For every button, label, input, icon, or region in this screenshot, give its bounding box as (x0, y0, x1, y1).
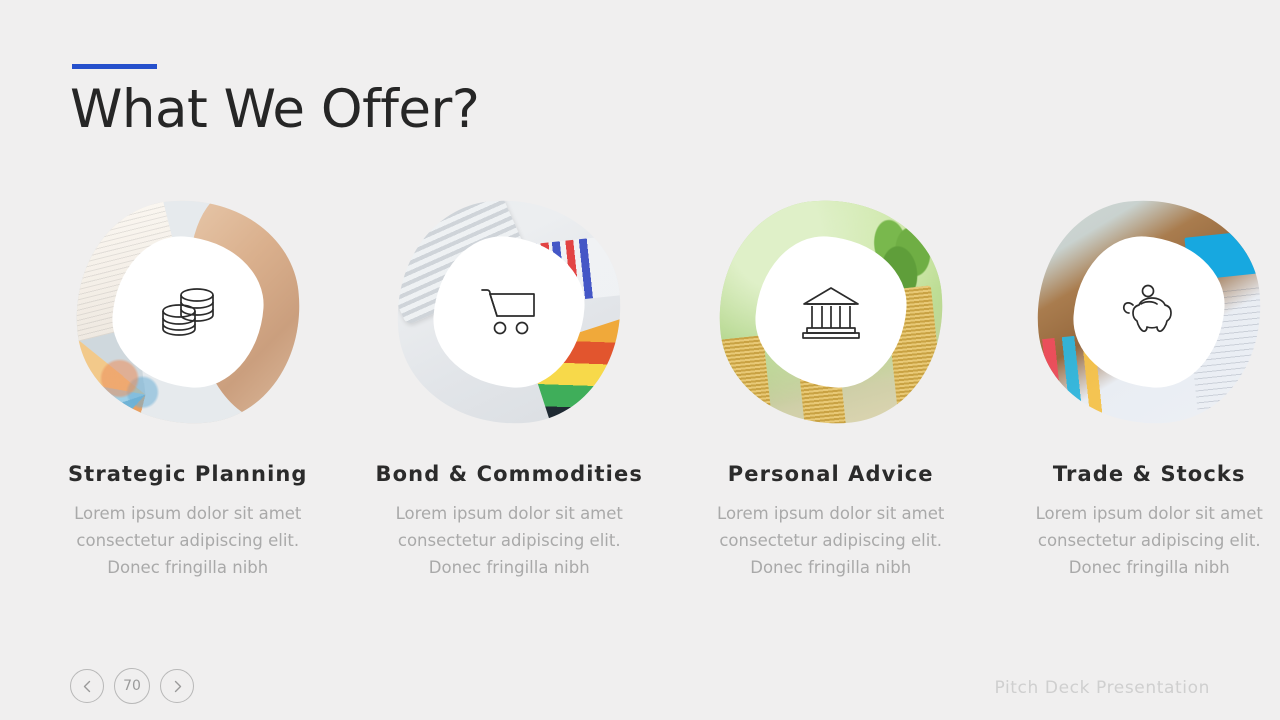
card-description: Lorem ipsum dolor sit amet consectetur a… (1024, 500, 1274, 581)
footer-brand-label: Pitch Deck Presentation (994, 678, 1210, 698)
card-title: Strategic Planning (68, 462, 308, 486)
slide-canvas: What We Offer? (0, 0, 1280, 720)
card-description: Lorem ipsum dolor sit amet consectetur a… (706, 500, 956, 581)
offer-card[interactable]: Bond & Commodities Lorem ipsum dolor sit… (376, 200, 643, 581)
offer-card[interactable]: Personal Advice Lorem ipsum dolor sit am… (700, 200, 962, 581)
offer-card[interactable]: Strategic Planning Lorem ipsum dolor sit… (57, 200, 319, 581)
offer-cards-row: Strategic Planning Lorem ipsum dolor sit… (0, 200, 1280, 581)
next-slide-button[interactable] (160, 669, 194, 703)
coins-stack-icon (157, 283, 219, 341)
card-media (76, 200, 300, 424)
page-title: What We Offer? (70, 76, 479, 144)
card-media (719, 200, 943, 424)
shopping-cart-icon (478, 284, 540, 340)
card-media (1037, 200, 1261, 424)
card-title: Personal Advice (728, 462, 934, 486)
offer-card[interactable]: Trade & Stocks Lorem ipsum dolor sit ame… (1018, 200, 1280, 581)
title-accent-bar (72, 64, 157, 69)
previous-slide-button[interactable] (70, 669, 104, 703)
page-number-badge: 70 (114, 668, 150, 704)
card-description: Lorem ipsum dolor sit amet consectetur a… (384, 500, 634, 581)
slide-navigation: 70 (70, 668, 194, 704)
card-description: Lorem ipsum dolor sit amet consectetur a… (63, 500, 313, 581)
card-media (397, 200, 621, 424)
card-title: Bond & Commodities (376, 462, 643, 486)
bank-building-icon (800, 284, 862, 340)
card-title: Trade & Stocks (1053, 462, 1246, 486)
piggy-bank-icon (1117, 283, 1181, 341)
chevron-right-icon (171, 680, 184, 693)
chevron-left-icon (81, 680, 94, 693)
